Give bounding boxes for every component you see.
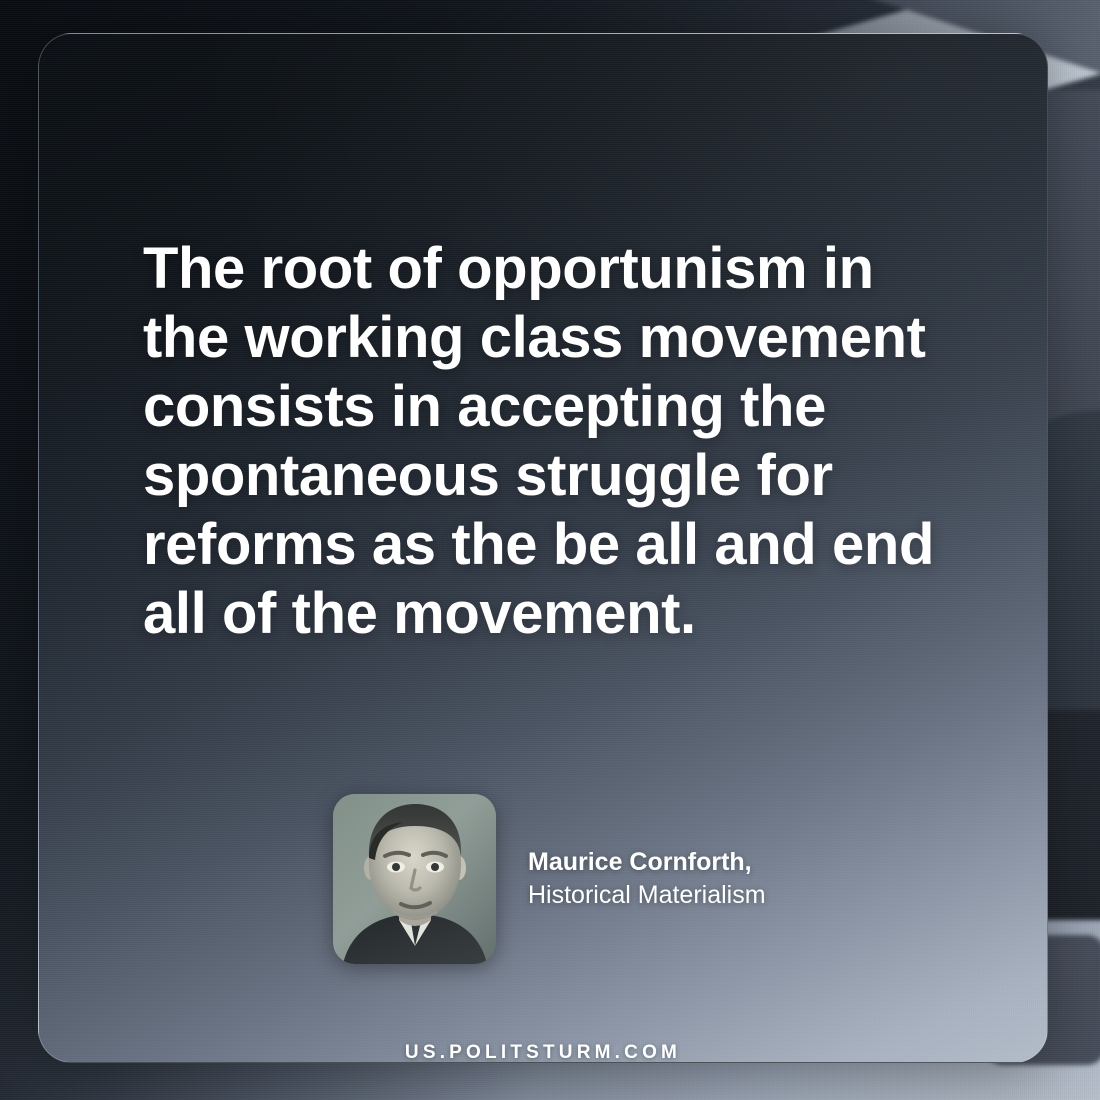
portrait-image	[333, 794, 496, 964]
quote-card: The root of opportunism in the working c…	[38, 33, 1048, 1063]
attribution-text: Maurice Cornforth, Historical Materialis…	[528, 846, 766, 912]
author-name: Maurice Cornforth,	[528, 846, 766, 879]
attribution: Maurice Cornforth, Historical Materialis…	[333, 794, 766, 964]
author-portrait	[333, 794, 496, 964]
quote-text: The root of opportunism in the working c…	[143, 234, 973, 648]
quote-graphic: The root of opportunism in the working c…	[0, 0, 1100, 1100]
source-title: Historical Materialism	[528, 879, 766, 912]
site-url[interactable]: US.POLITSTURM.COM	[39, 1042, 1047, 1063]
